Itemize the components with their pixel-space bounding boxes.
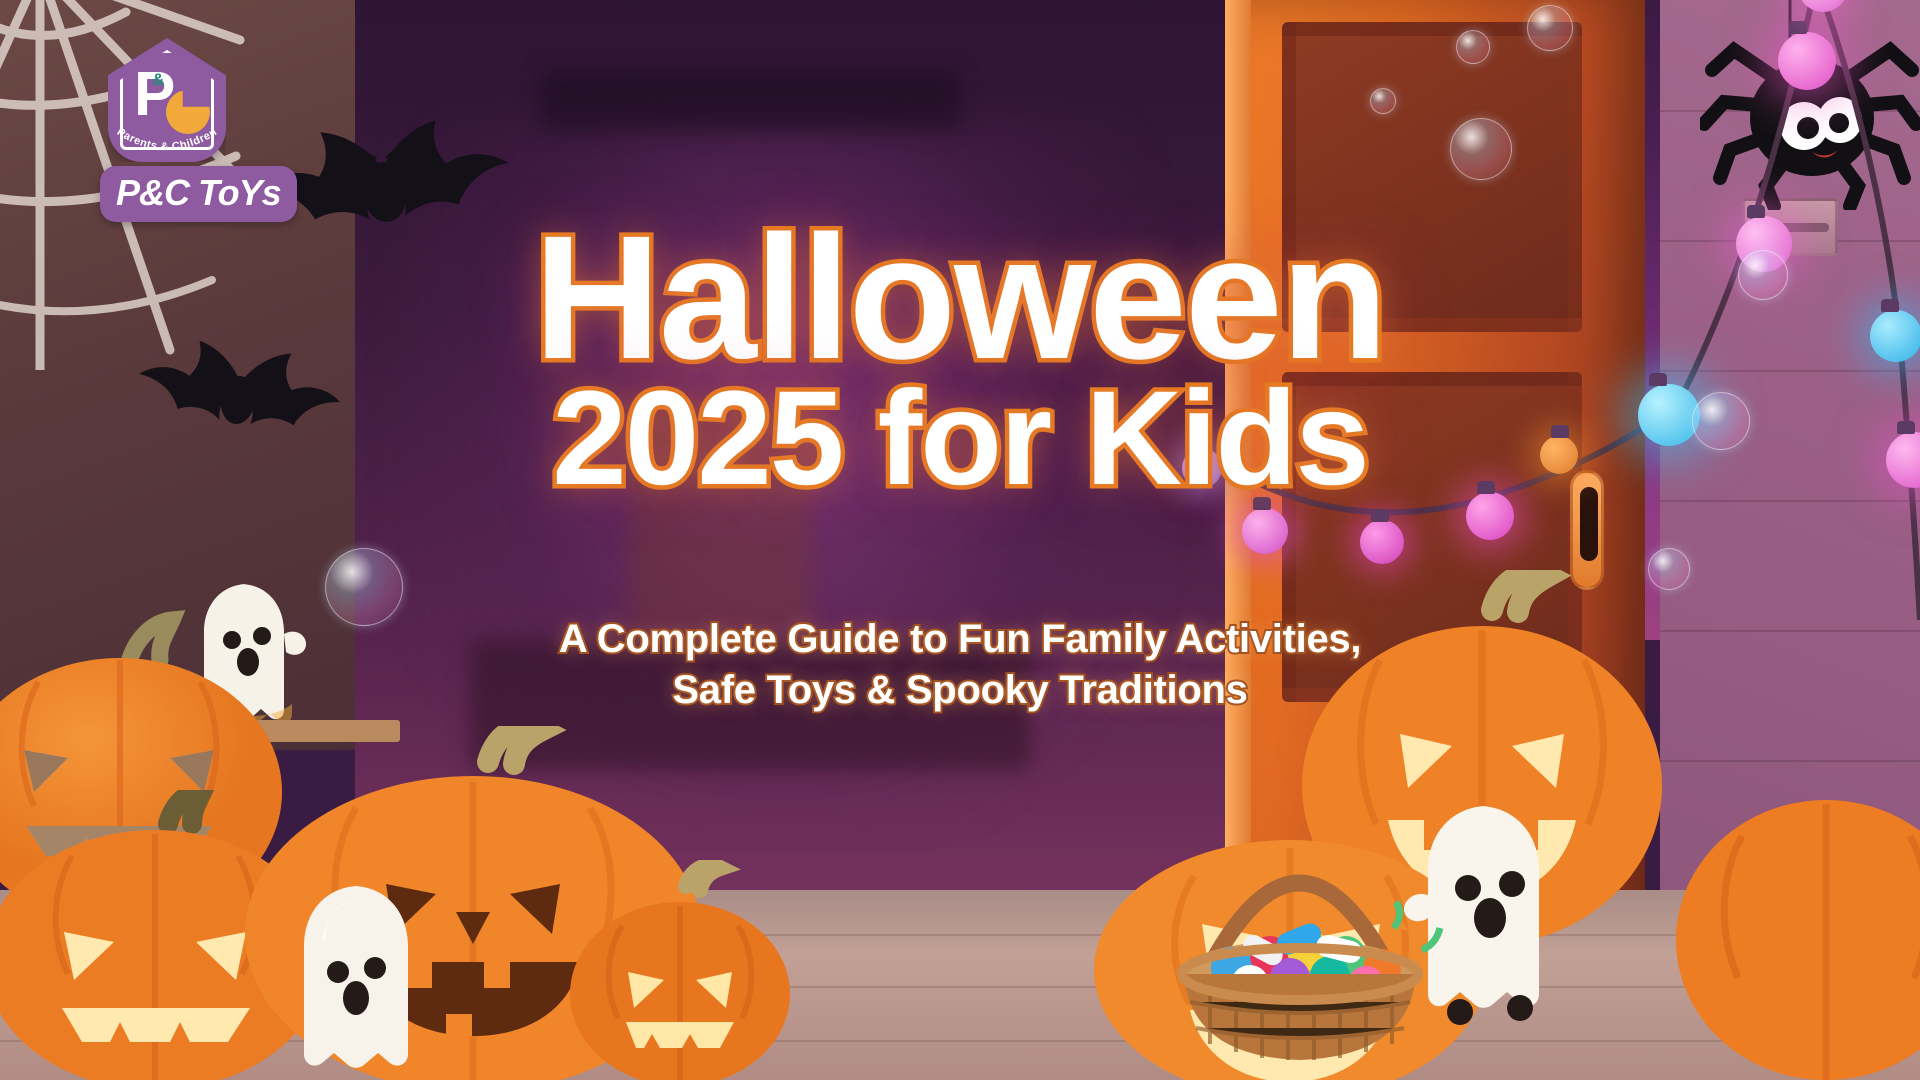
jack-o-lantern-icon: [566, 860, 796, 1080]
ghost-icon: [280, 880, 440, 1080]
title-line-1: Halloween: [0, 214, 1920, 383]
halloween-banner: P & Parents & Children P&C ToYs Hallowee…: [0, 0, 1920, 1080]
title-line-2: 2025 for Kids: [0, 375, 1920, 504]
bubble-icon: [1527, 5, 1573, 51]
subtitle-line-1: A Complete Guide to Fun Family Activitie…: [0, 614, 1920, 665]
svg-text:Parents & Children: Parents & Children: [115, 126, 219, 153]
candy-basket-icon: [1150, 778, 1450, 1073]
headline-block: Halloween 2025 for Kids: [0, 214, 1920, 504]
logo-tagline-arc: Parents & Children: [108, 124, 226, 164]
light-bulb: [1360, 520, 1404, 564]
light-bulb: [1778, 32, 1836, 90]
subtitle-block: A Complete Guide to Fun Family Activitie…: [0, 614, 1920, 716]
brand-logo[interactable]: P & Parents & Children P&C ToYs: [56, 38, 286, 228]
bubble-icon: [1370, 88, 1396, 114]
light-bulb: [1242, 508, 1288, 554]
background-scene: [0, 0, 1920, 1080]
subtitle-line-2: Safe Toys & Spooky Traditions: [0, 665, 1920, 716]
bubble-icon: [1456, 30, 1490, 64]
jack-o-lantern-icon: [1676, 760, 1920, 1080]
interior-shape: [540, 70, 960, 130]
bubble-icon: [1450, 118, 1512, 180]
logo-ampersand: &: [152, 70, 164, 90]
